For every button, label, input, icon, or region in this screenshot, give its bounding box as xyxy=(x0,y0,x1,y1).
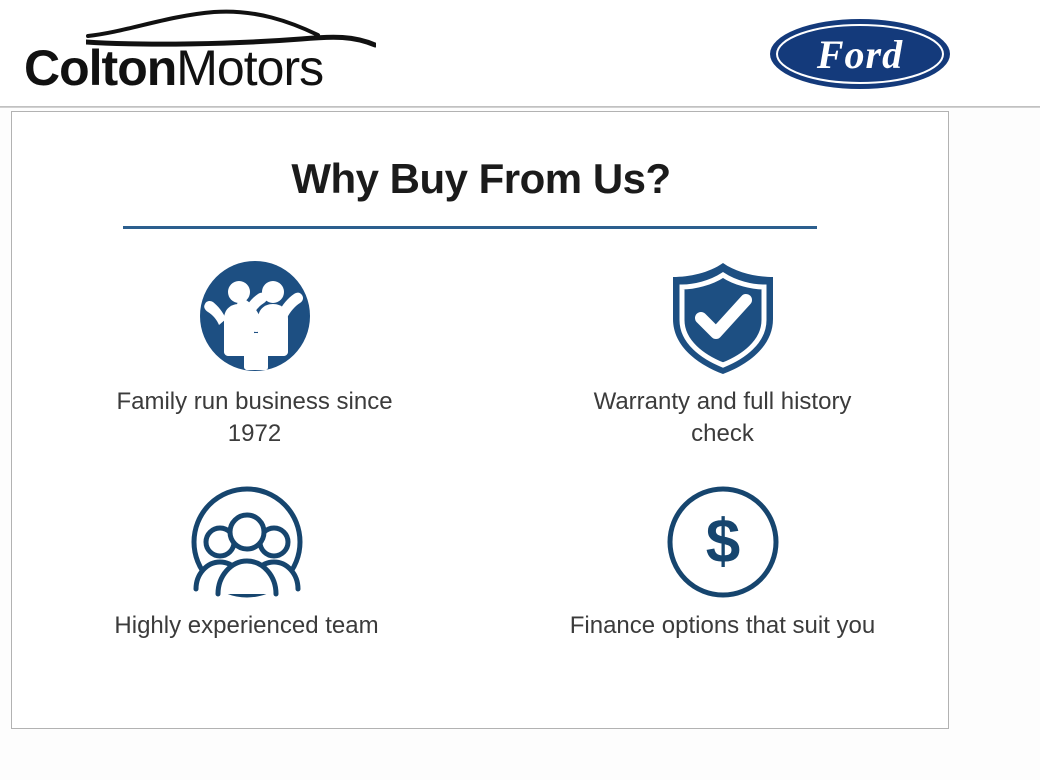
ford-oval-shape xyxy=(768,17,952,91)
svg-text:$: $ xyxy=(705,508,739,577)
header-divider xyxy=(0,106,1040,108)
team-group-icon xyxy=(189,484,305,600)
dollar-circle-icon: $ xyxy=(665,484,781,600)
feature-item-warranty: Warranty and full history check xyxy=(481,260,950,484)
why-buy-card: Why Buy From Us? xyxy=(11,111,949,729)
feature-label: Warranty and full history check xyxy=(563,386,883,450)
page-root: ColtonMotors Ford Why Buy From Us? xyxy=(0,0,1040,780)
shield-check-icon xyxy=(665,260,781,376)
feature-item-team: Highly experienced team xyxy=(12,484,481,708)
ford-oval-logo[interactable]: Ford xyxy=(768,17,952,91)
brand-name-secondary: Motors xyxy=(176,40,323,96)
feature-grid: Family run business since 1972 Warranty … xyxy=(12,260,950,708)
brand-name-primary: Colton xyxy=(24,40,176,96)
page-title: Why Buy From Us? xyxy=(12,155,950,203)
feature-item-finance: $ Finance options that suit you xyxy=(481,484,950,708)
brand-wordmark: ColtonMotors xyxy=(24,40,384,96)
page-header: ColtonMotors Ford xyxy=(0,0,1040,108)
feature-label: Finance options that suit you xyxy=(563,610,883,642)
feature-item-family: Family run business since 1972 xyxy=(12,260,481,484)
colton-motors-logo[interactable]: ColtonMotors xyxy=(24,4,384,100)
family-circle-icon xyxy=(197,260,313,376)
title-divider xyxy=(123,226,817,229)
feature-label: Family run business since 1972 xyxy=(95,386,415,450)
feature-label: Highly experienced team xyxy=(87,610,407,642)
